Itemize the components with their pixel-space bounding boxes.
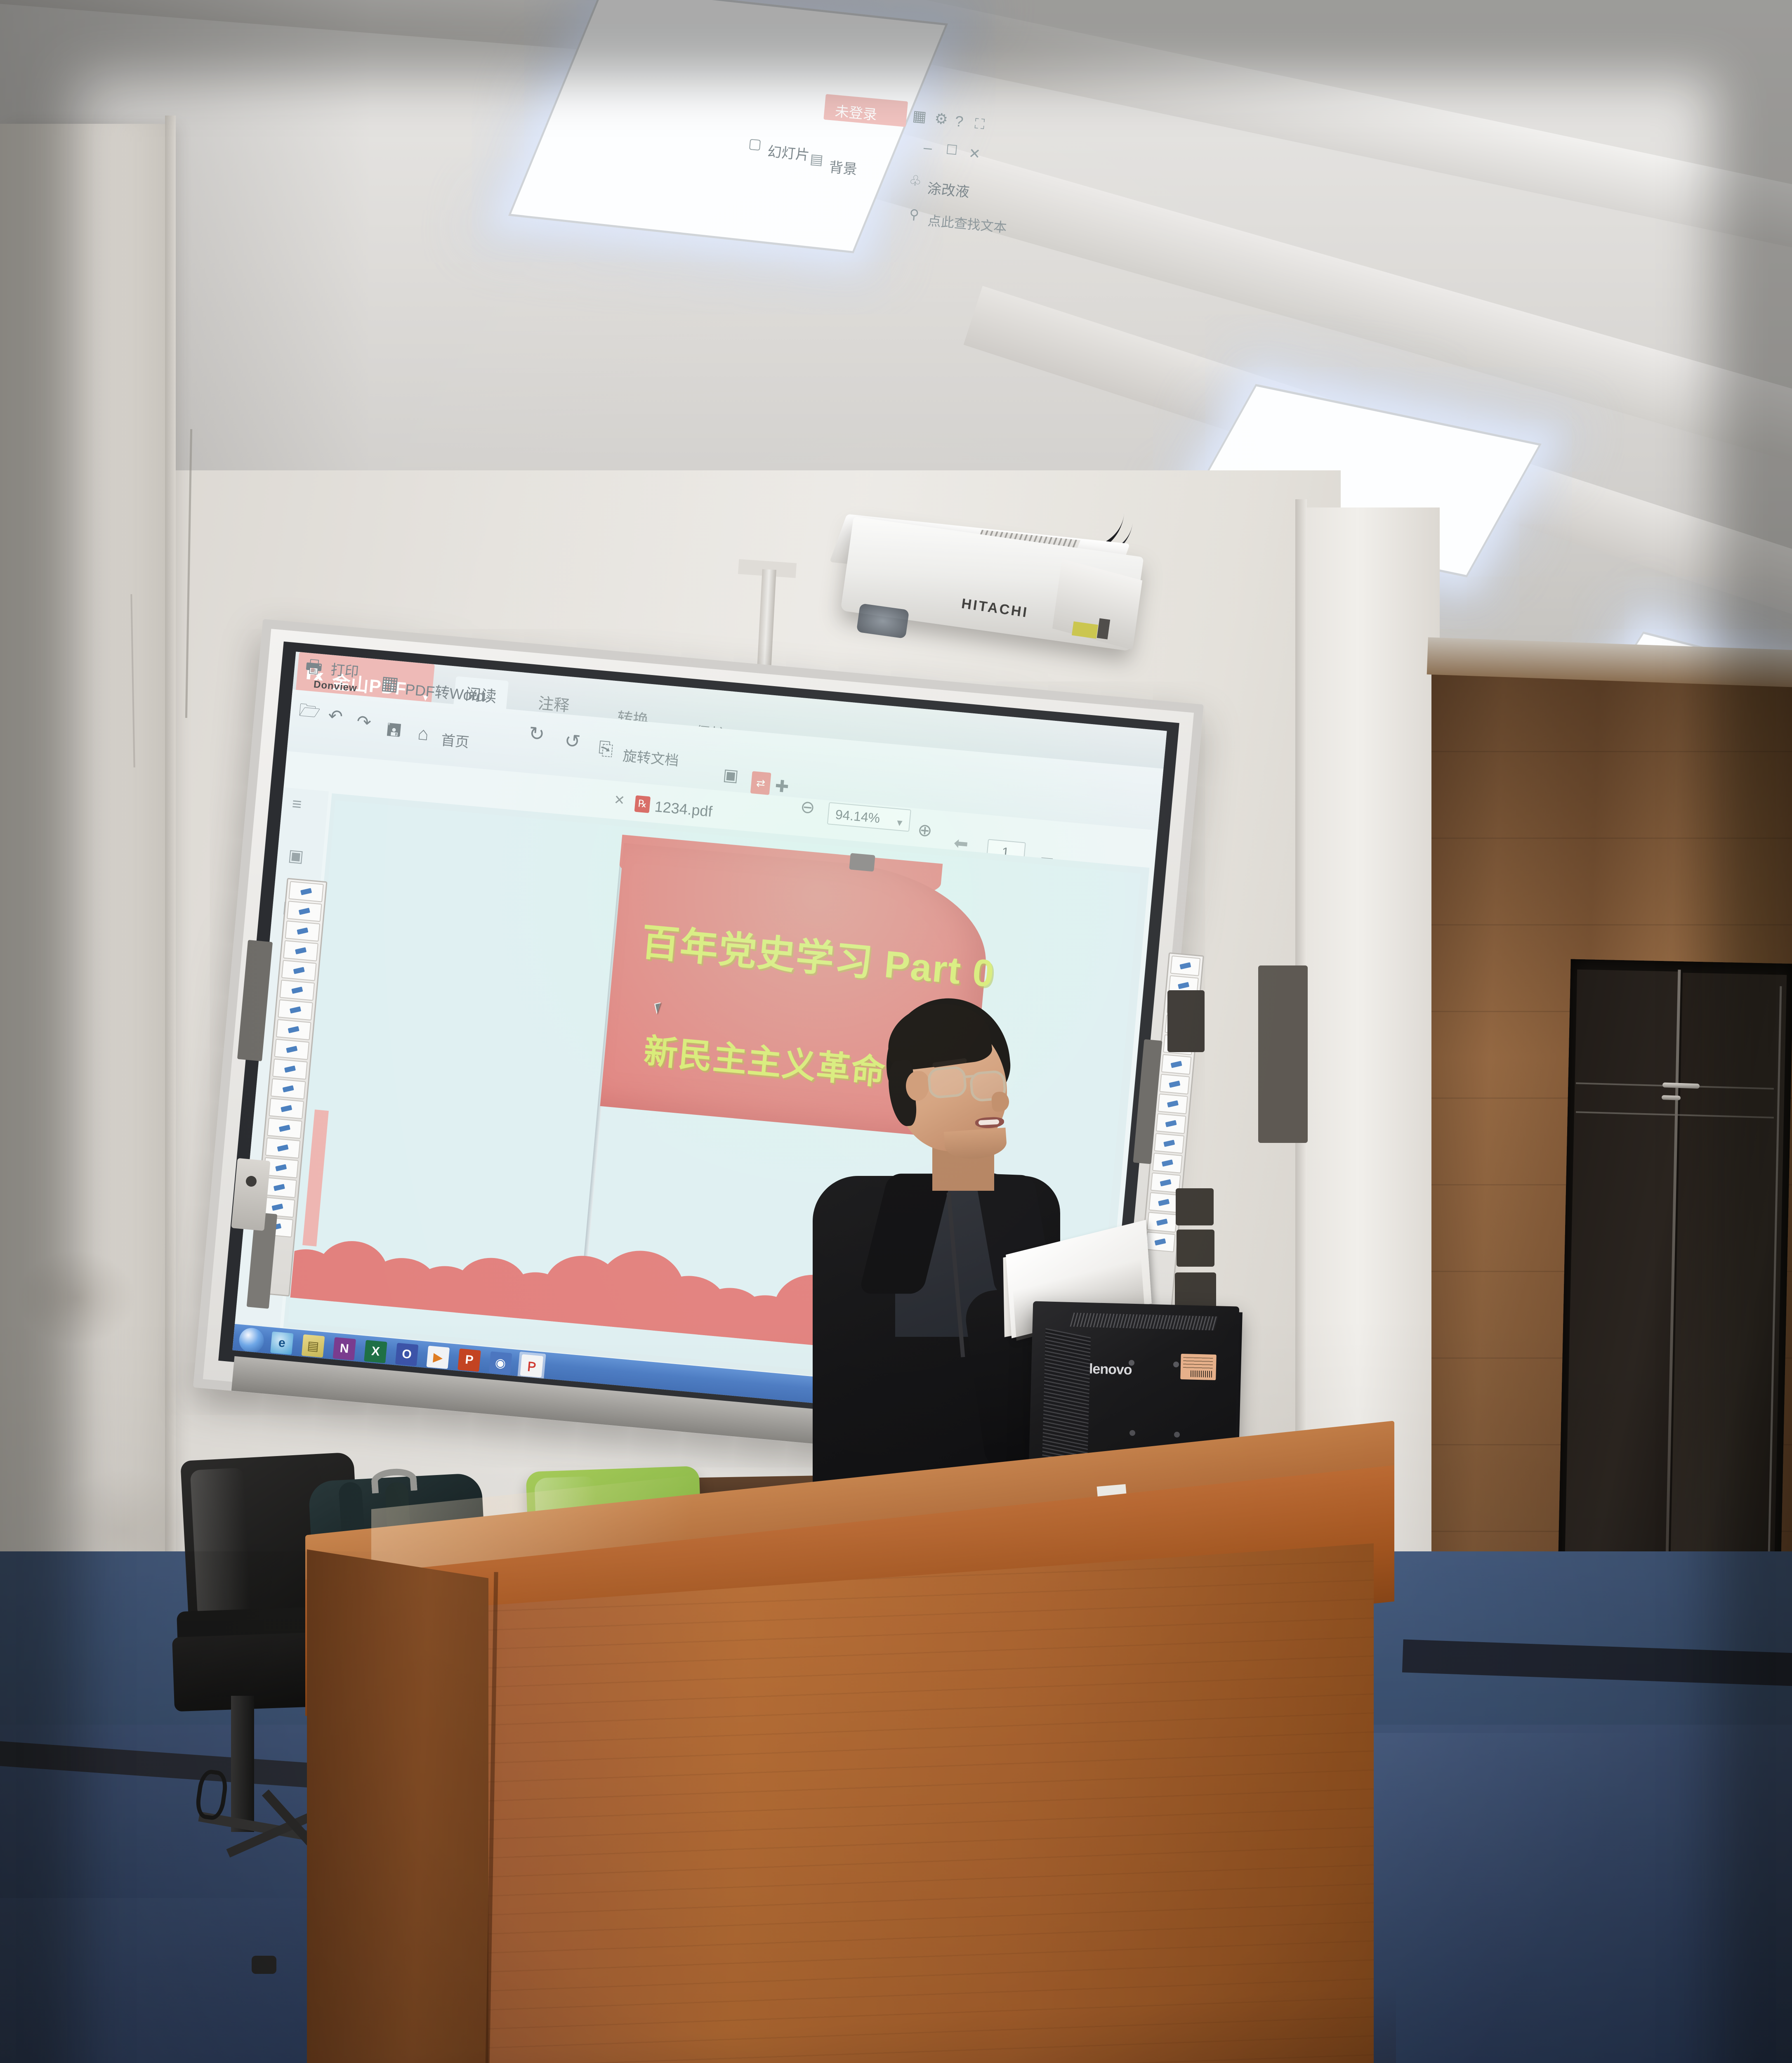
close-icon[interactable]: ✕ xyxy=(613,792,625,808)
classroom-photo-scene: HITACHI ℞ 金山PDF ▼ 阅读 注释 转换 保护 工具 🖶 打印 ▦ … xyxy=(0,0,1792,2063)
monitor-brand-label: lenovo xyxy=(1089,1361,1132,1378)
redo-icon[interactable]: ↷ xyxy=(356,711,372,733)
thumbnails-icon[interactable]: ▣ xyxy=(288,846,305,866)
excel-icon[interactable]: X xyxy=(364,1340,387,1363)
print-button-label[interactable]: 打印 xyxy=(330,658,360,681)
zoom-out-icon[interactable]: ⊖ xyxy=(799,796,816,818)
wb-tool-insert[interactable] xyxy=(285,921,321,942)
wb-tool-highlighter[interactable] xyxy=(1156,1113,1186,1134)
slideshow-label[interactable]: 幻灯片 xyxy=(767,140,811,164)
zoom-in-icon[interactable]: ⊕ xyxy=(917,819,933,841)
monitor-side-vent xyxy=(1042,1328,1091,1473)
wb-tool-select[interactable] xyxy=(288,881,324,902)
wb-tool-red-pen[interactable] xyxy=(1159,1074,1190,1095)
wb-tool-save[interactable] xyxy=(1148,1192,1179,1213)
login-label: 未登录 xyxy=(834,100,878,124)
outline-icon[interactable]: ≡ xyxy=(291,795,302,814)
presenter-ear xyxy=(906,1071,929,1101)
wb-tool-highlighter[interactable] xyxy=(274,1039,310,1060)
asset-tag-barcode xyxy=(1191,1370,1212,1377)
powerpoint-icon[interactable]: P xyxy=(457,1348,481,1371)
wb-tool-eraser[interactable] xyxy=(287,901,322,922)
page-merge-icon[interactable]: ✚ xyxy=(774,777,790,797)
whiteboard-pen-holder[interactable] xyxy=(231,1158,270,1231)
page-extract-icon[interactable]: ▣ xyxy=(722,765,740,786)
pdf-to-word-icon[interactable]: ▦ xyxy=(380,671,400,695)
wb-tool-handwriting[interactable] xyxy=(1154,1133,1184,1154)
door-leaf-left[interactable] xyxy=(1563,970,1681,1652)
wb-tool-next-page[interactable] xyxy=(281,960,317,981)
wb-tool-prev-page[interactable] xyxy=(283,940,318,961)
vesa-screw xyxy=(1129,1430,1135,1436)
slideshow-icon[interactable]: ▢ xyxy=(747,135,762,153)
onenote-icon[interactable]: N xyxy=(333,1337,356,1360)
wb-tool-board-eraser[interactable] xyxy=(1152,1153,1183,1173)
minimize-icon[interactable]: ‒ xyxy=(923,139,933,157)
rotate-left-icon[interactable]: ↻ xyxy=(528,722,545,746)
wb-tool-select[interactable] xyxy=(1170,956,1201,976)
wb-tool-black-pen[interactable] xyxy=(1158,1093,1188,1114)
door-lock-lever[interactable] xyxy=(1662,1095,1681,1100)
whiteboard-ir-sensor xyxy=(849,853,875,871)
wb-tool-pencil[interactable] xyxy=(280,980,315,1001)
wb-tool-undo[interactable] xyxy=(269,1098,304,1119)
file-explorer-icon[interactable]: ▤ xyxy=(302,1334,325,1357)
wb-tool-text[interactable] xyxy=(265,1138,301,1159)
floor-vignette xyxy=(0,1551,1792,2063)
wb-tool-text[interactable] xyxy=(1147,1212,1177,1232)
wall-sensor-panel[interactable] xyxy=(1177,1230,1214,1267)
film-reel-icon[interactable]: ◉ xyxy=(489,1351,512,1374)
wall-control-panel[interactable] xyxy=(1167,990,1205,1052)
wall-scuff xyxy=(17,1250,136,1345)
maximize-icon[interactable]: ☐ xyxy=(945,142,958,158)
wall-speaker-panel xyxy=(1258,965,1308,1143)
pdf-file-icon: ℞ xyxy=(634,795,651,813)
whiteout-label[interactable]: 涂改液 xyxy=(927,177,970,201)
file-tab-name[interactable]: 1234.pdf xyxy=(654,798,713,821)
wb-tool-red-pen[interactable] xyxy=(278,999,313,1020)
chevron-down-icon[interactable]: ▼ xyxy=(895,817,905,829)
internet-explorer-icon[interactable]: e xyxy=(270,1331,293,1355)
page-split-icon[interactable]: ⇄ xyxy=(750,771,771,795)
gear-icon[interactable]: ⚙ xyxy=(934,110,949,128)
media-player-icon[interactable]: ▶ xyxy=(427,1345,450,1369)
save-icon[interactable]: 🖪 xyxy=(385,717,402,748)
rotate-right-icon[interactable]: ↺ xyxy=(564,729,581,753)
home-button-label[interactable]: 首页 xyxy=(440,729,470,751)
close-icon[interactable]: ✕ xyxy=(968,145,981,163)
presenter-glasses-left-lens xyxy=(927,1065,967,1099)
help-icon[interactable]: ? xyxy=(954,113,964,131)
sidebar-toggle-icon[interactable]: ▦ xyxy=(912,107,927,125)
open-folder-icon[interactable]: 🗁 xyxy=(297,698,321,729)
search-icon[interactable]: ⚲ xyxy=(909,206,920,222)
wb-tool-video[interactable] xyxy=(1145,1232,1176,1252)
background-label[interactable]: 背景 xyxy=(828,156,858,178)
fullscreen-icon[interactable]: ⛶ xyxy=(974,116,985,133)
background-icon[interactable]: ▤ xyxy=(809,151,824,168)
wps-pdf-taskbar-icon[interactable]: Ｐ xyxy=(520,1354,543,1377)
wall-wifi-panel[interactable] xyxy=(1176,1188,1214,1225)
wb-tool-black-pen[interactable] xyxy=(276,1019,311,1040)
vesa-screw xyxy=(1173,1362,1179,1367)
vesa-screw xyxy=(1174,1432,1180,1437)
asset-tag-text-lines xyxy=(1183,1357,1213,1370)
home-icon[interactable]: ⌂ xyxy=(417,723,429,745)
whiteout-icon[interactable]: ♧ xyxy=(908,172,922,190)
wb-tool-save[interactable] xyxy=(267,1118,302,1139)
wb-tool-handwriting[interactable] xyxy=(272,1059,308,1080)
window-controls-group: 未登录 ▦ ⚙ ? ⛶ ‒ ☐ ✕ ▢ 幻灯片 ▤ 背景 ♧ 涂改液 ⚲ 点此查… xyxy=(817,94,1031,211)
outlook-icon[interactable]: O xyxy=(395,1343,418,1366)
vesa-screw xyxy=(1129,1360,1134,1366)
rotate-document-icon[interactable]: ⎘ xyxy=(598,738,614,760)
undo-icon[interactable]: ↶ xyxy=(328,705,344,727)
wb-tool-board-eraser[interactable] xyxy=(271,1078,306,1099)
wb-tool-pencil[interactable] xyxy=(1161,1054,1192,1075)
